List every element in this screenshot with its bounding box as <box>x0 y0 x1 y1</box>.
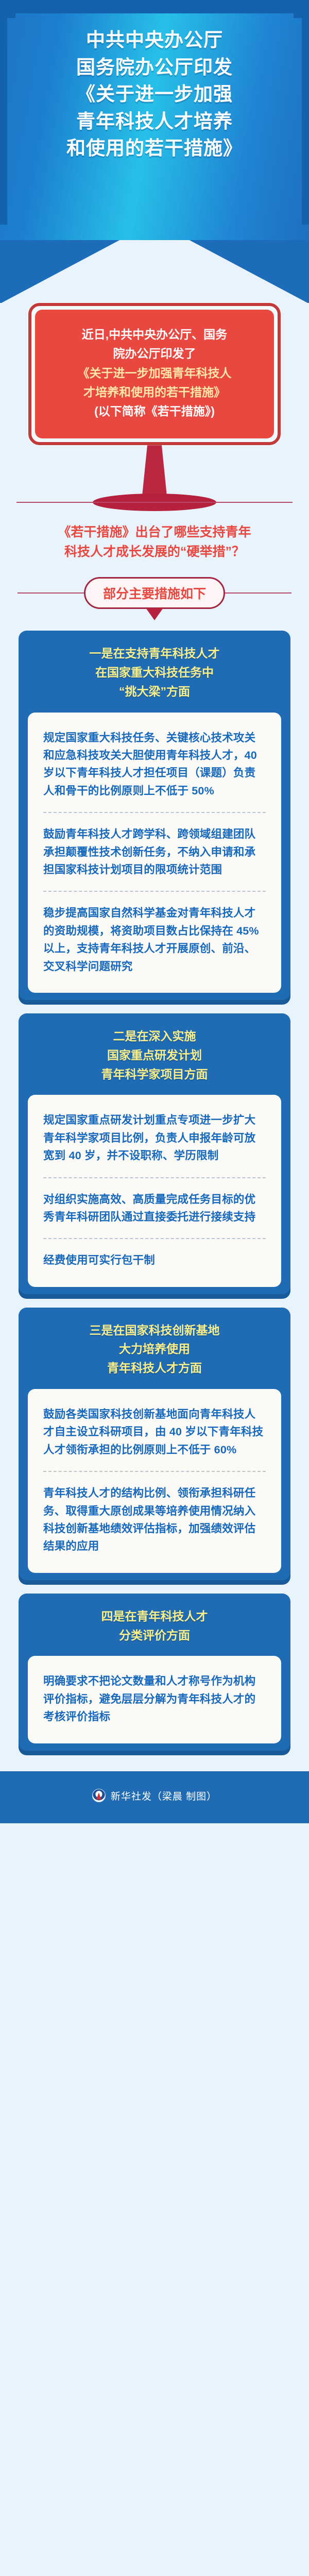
section-paragraph: 规定国家重大科技任务、关键核心技术攻关和应急科技攻关大胆使用青年科技人才，40岁… <box>43 717 266 812</box>
measure-section-1: 一是在支持青年科技人才 在国家重大科技任务中 “挑大梁”方面 规定国家重大科技任… <box>19 631 290 1000</box>
monitor-stand-neck <box>142 445 167 501</box>
section-title-line: 二是在深入实施 <box>33 1027 276 1046</box>
monitor-stand <box>0 445 309 511</box>
section-title-line: 四是在青年科技人才 <box>33 1607 276 1626</box>
section-body: 明确要求不把论文数量和人才称号作为机构评价指标，避免层层分解为青年科技人才的考核… <box>28 1656 281 1743</box>
section-title: 四是在青年科技人才 分类评价方面 <box>19 1607 290 1656</box>
measure-section-3: 三是在国家科技创新基地 大力培养使用 青年科技人才方面 鼓励各类国家科技创新基地… <box>19 1308 290 1580</box>
footer-credit-text: 新华社发（梁晨 制图） <box>111 1789 217 1803</box>
page-title-line: 《关于进一步加强 <box>18 81 291 108</box>
footer-credit-bar: 新华社发（梁晨 制图） <box>0 1771 309 1823</box>
intro-line-highlight: 才培养和使用的若干措施》 <box>51 383 257 402</box>
measure-section-2: 二是在深入实施 国家重点研发计划 青年科学家项目方面 规定国家重点研发计划重点专… <box>19 1013 290 1294</box>
intro-screen-content: 近日,中共中央办公厅、国务 院办公厅印发了 《关于进一步加强青年科技人 才培养和… <box>35 310 274 438</box>
section-title-line: 大力培养使用 <box>33 1340 276 1359</box>
section-paragraph: 稳步提高国家自然科学基金对青年科技人才的资助规模，将资助项目数占比保持在 45%… <box>43 891 266 988</box>
section-title-line: “挑大梁”方面 <box>33 682 276 701</box>
measures-intro-row: 部分主要措施如下 <box>0 573 309 617</box>
page-title-line: 中共中央办公厅 <box>18 27 291 54</box>
section-body: 规定国家重点研发计划重点专项进一步扩大青年科学家项目比例，负责人申报年龄可放宽到… <box>28 1095 281 1286</box>
section-paragraph: 规定国家重点研发计划重点专项进一步扩大青年科学家项目比例，负责人申报年龄可放宽到… <box>43 1099 266 1177</box>
section-paragraph: 经费使用可实行包干制 <box>43 1238 266 1281</box>
intro-line: (以下简称《若干措施》) <box>51 402 257 421</box>
section-paragraph: 青年科技人才的结构比例、领衔承担科研任务、取得重大原创成果等培养使用情况纳入科技… <box>43 1471 266 1568</box>
section-paragraph: 对组织实施高效、高质量完成任务目标的优秀青年科研团队通过直接委托进行接续支持 <box>43 1177 266 1239</box>
section-title-line: 青年科技人才方面 <box>33 1359 276 1378</box>
chevron-down-icon <box>146 608 163 620</box>
page-title-line: 青年科技人才培养 <box>18 108 291 135</box>
section-paragraph: 明确要求不把论文数量和人才称号作为机构评价指标，避免层层分解为青年科技人才的考核… <box>43 1660 266 1738</box>
measure-section-4: 四是在青年科技人才 分类评价方面 明确要求不把论文数量和人才称号作为机构评价指标… <box>19 1594 290 1751</box>
section-body: 鼓励各类国家科技创新基地面向青年科技人才自主设立科研项目，由 40 岁以下青年科… <box>28 1389 281 1573</box>
header-banner: 中共中央办公厅 国务院办公厅印发 《关于进一步加强 青年科技人才培养 和使用的若… <box>0 0 309 240</box>
intro-line-highlight: 《关于进一步加强青年科技人 <box>51 364 257 383</box>
section-title-line: 青年科学家项目方面 <box>33 1065 276 1084</box>
section-title-line: 一是在支持青年科技人才 <box>33 644 276 663</box>
section-title: 三是在国家科技创新基地 大力培养使用 青年科技人才方面 <box>19 1321 290 1389</box>
question-line: 科技人才成长发展的“硬举措”？ <box>21 542 288 562</box>
section-paragraph: 鼓励青年科技人才跨学科、跨领域组建团队承担颠覆性技术创新任务，不纳入申请和承担国… <box>43 812 266 891</box>
intro-screen: 近日,中共中央办公厅、国务 院办公厅印发了 《关于进一步加强青年科技人 才培养和… <box>0 303 309 445</box>
infographic-page: 中共中央办公厅 国务院办公厅印发 《关于进一步加强 青年科技人才培养 和使用的若… <box>0 0 309 2576</box>
page-title: 中共中央办公厅 国务院办公厅印发 《关于进一步加强 青年科技人才培养 和使用的若… <box>0 0 309 162</box>
section-title-line: 三是在国家科技创新基地 <box>33 1321 276 1340</box>
section-paragraph: 鼓励各类国家科技创新基地面向青年科技人才自主设立科研项目，由 40 岁以下青年科… <box>43 1393 266 1471</box>
section-title: 一是在支持青年科技人才 在国家重大科技任务中 “挑大梁”方面 <box>19 644 290 712</box>
section-title-line: 国家重点研发计划 <box>33 1046 276 1065</box>
section-title-line: 分类评价方面 <box>33 1626 276 1645</box>
section-title: 二是在深入实施 国家重点研发计划 青年科学家项目方面 <box>19 1027 290 1095</box>
intro-line: 近日,中共中央办公厅、国务 <box>51 325 257 344</box>
horizontal-rule <box>16 502 293 503</box>
section-title-line: 在国家重大科技任务中 <box>33 663 276 682</box>
section-body: 规定国家重大科技任务、关键核心技术攻关和应急科技攻关大胆使用青年科技人才，40岁… <box>28 713 281 993</box>
question-heading: 《若干措施》出台了哪些支持青年 科技人才成长发展的“硬举措”？ <box>0 511 309 562</box>
measures-intro-pill: 部分主要措施如下 <box>84 577 225 609</box>
header-wedge-divider <box>0 240 309 303</box>
page-title-line: 和使用的若干措施》 <box>18 135 291 162</box>
xinhua-logo-icon <box>92 1789 106 1802</box>
page-title-line: 国务院办公厅印发 <box>18 54 291 81</box>
wedge-shape-front <box>0 240 309 303</box>
intro-line: 院办公厅印发了 <box>51 344 257 363</box>
question-line: 《若干措施》出台了哪些支持青年 <box>21 522 288 542</box>
intro-screen-frame: 近日,中共中央办公厅、国务 院办公厅印发了 《关于进一步加强青年科技人 才培养和… <box>28 303 281 445</box>
